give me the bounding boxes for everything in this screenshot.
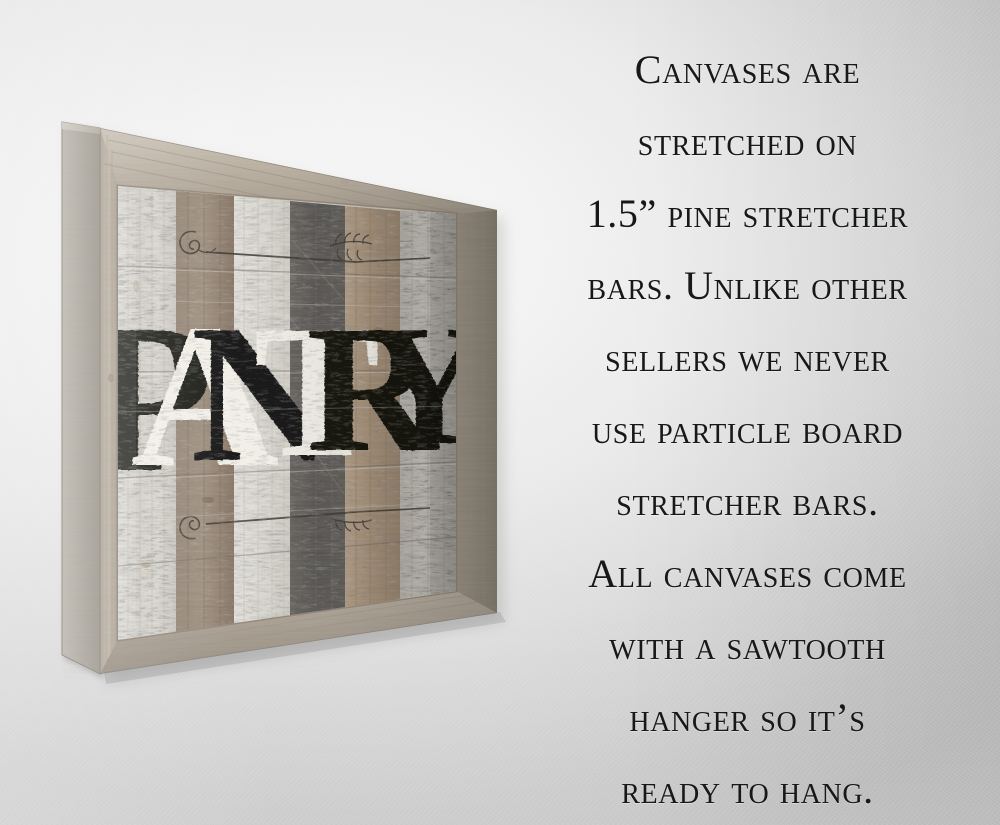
copy-line-2: stretched on: [505, 106, 990, 178]
copy-line-10: hanger so it’s: [505, 682, 990, 754]
canvas-side-depth: [62, 122, 100, 674]
copy-line-8: All canvases come: [505, 538, 990, 610]
framed-canvas-product[interactable]: P A N T R Y: [0, 0, 560, 760]
copy-line-6: use particle board: [505, 394, 990, 466]
canvas-artwork-svg: P A N T R Y: [0, 0, 560, 760]
copy-line-5: sellers we never: [505, 322, 990, 394]
copy-line-9: with a sawtooth: [505, 610, 990, 682]
copy-line-1: Canvases are: [505, 34, 990, 106]
canvas-face: P A N T R Y: [84, 175, 490, 650]
frame-nail-head: [162, 133, 169, 137]
copy-line-4: bars. Unlike other: [505, 250, 990, 322]
copy-line-7: stretcher bars.: [505, 466, 990, 538]
product-description-copy: Canvases are stretched on 1.5” pine stre…: [505, 34, 990, 794]
product-photo-stage: P A N T R Y: [0, 0, 1000, 825]
copy-line-11: ready to hang.: [505, 754, 990, 825]
copy-line-3: 1.5” pine stretcher: [505, 178, 990, 250]
